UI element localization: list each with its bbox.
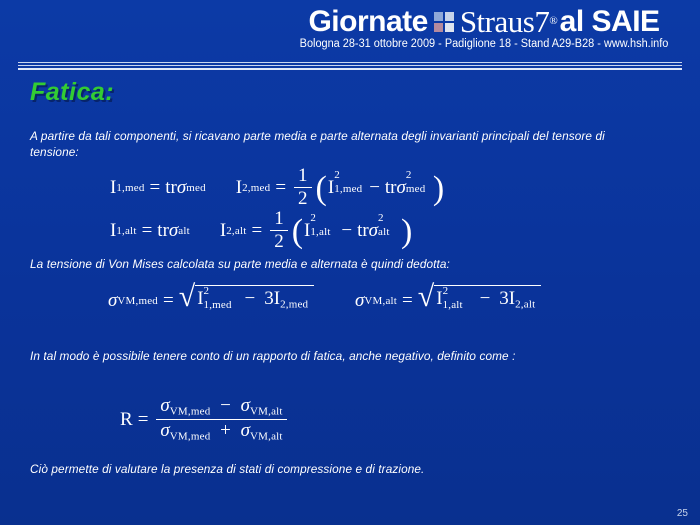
eq3-lhs-sigma: σ xyxy=(108,290,117,312)
eq5-num-operator: − xyxy=(220,395,231,416)
eq2-sigma-2: σ xyxy=(369,220,378,242)
eq2-term1-sub: 1,alt xyxy=(310,226,330,238)
eq5-den-sigma-2: σ xyxy=(241,420,250,441)
eq3-term1-sup: 2 xyxy=(204,285,210,297)
eq5-den-sub-2: VM,alt xyxy=(250,431,283,443)
eq1-trace-fn-1: tr xyxy=(165,177,177,199)
eq1-frac-numerator: 1 xyxy=(294,166,312,186)
eq2-paren-open: ( xyxy=(292,218,303,245)
paragraph-conclusion: Ciò permette di valutare la presenza di … xyxy=(30,461,625,477)
paragraph-intro: A partire da tali componenti, si ricavan… xyxy=(30,128,606,160)
eq2-trace-fn-2: tr xyxy=(357,220,369,242)
page-number: 25 xyxy=(677,508,688,519)
eq4-radicand: I21,alt − 3I2,alt xyxy=(434,285,541,310)
eq1-frac-denominator: 2 xyxy=(294,189,312,209)
eq2-sigma-1: σ xyxy=(169,220,178,242)
equation-von-mises-mean: σVM,med = √ I21,med − 3I2,med xyxy=(108,288,314,313)
eq3-minus: − xyxy=(245,288,256,309)
eq5-numerator: σVM,med − σVM,alt xyxy=(156,396,286,418)
equation-fatigue-ratio-R: R = σVM,med − σVM,alt σVM,med + σVM,alt xyxy=(120,396,290,443)
logo-word-giornate: Giornate xyxy=(308,7,427,37)
eq3-lhs-sub: VM,med xyxy=(117,295,158,307)
eq3-radical-sign: √ xyxy=(179,285,195,310)
equation-von-mises-alternating: σVM,alt = √ I21,alt − 3I2,alt xyxy=(355,288,541,313)
equation-invariants-mean: I1,med = trσmed I2,med = 1 2 ( I21,med −… xyxy=(110,166,445,209)
eq4-term1-sub: 1,alt xyxy=(443,299,463,311)
eq2-sigma-1-sub: alt xyxy=(178,225,190,237)
eq5-equals: = xyxy=(138,409,149,431)
eq1-term1-sub: 1,med xyxy=(334,183,362,195)
eq4-term2-sub: 2,alt xyxy=(515,298,535,310)
eq2-lhs1-sub: 1,alt xyxy=(116,225,136,237)
eq5-ratio-fraction: σVM,med − σVM,alt σVM,med + σVM,alt xyxy=(156,396,286,443)
eq3-term2-sub: 2,med xyxy=(280,298,308,310)
eq4-term1-sup: 2 xyxy=(443,285,449,297)
eq1-equals-2: = xyxy=(275,177,286,199)
paragraph-fatigue-ratio: In tal modo è possibile tenere conto di … xyxy=(30,348,577,364)
registered-trademark-icon: ® xyxy=(549,16,557,27)
eq2-paren-close: ) xyxy=(401,218,412,245)
header-subtitle: Bologna 28-31 ottobre 2009 - Padiglione … xyxy=(285,38,684,50)
eq4-minus: − xyxy=(480,288,491,309)
eq2-frac-denominator: 2 xyxy=(270,232,288,252)
eq2-one-half-fraction: 1 2 xyxy=(270,209,288,252)
eq3-radicand: I21,med − 3I2,med xyxy=(195,285,314,310)
eq5-num-sigma-1: σ xyxy=(160,395,169,416)
eq4-coefficient: 3 xyxy=(499,288,509,309)
eq2-term2-sup: 2 xyxy=(378,212,384,224)
eq2-term2-sub: alt xyxy=(378,226,390,238)
logo-word-straus7: Straus7 xyxy=(460,6,550,37)
eq2-equals-1: = xyxy=(142,220,153,242)
eq5-den-sigma-1: σ xyxy=(160,420,169,441)
eq1-term1-sup: 2 xyxy=(334,169,340,181)
eq2-lhs2-sub: 2,alt xyxy=(226,225,246,237)
eq1-term2-sub: med xyxy=(406,183,426,195)
eq1-one-half-fraction: 1 2 xyxy=(294,166,312,209)
eq4-radical-sign: √ xyxy=(418,285,434,310)
eq1-minus: − xyxy=(369,177,380,199)
eq3-square-root: √ I21,med − 3I2,med xyxy=(179,288,315,313)
event-logo: Giornate Straus7 ® al SAIE xyxy=(274,6,694,37)
eq4-lhs-sub: VM,alt xyxy=(364,295,397,307)
page-title: Fatica: xyxy=(30,78,114,107)
presentation-slide: Giornate Straus7 ® al SAIE Bologna 28-31… xyxy=(0,0,700,525)
eq2-term1-sup: 2 xyxy=(310,212,316,224)
eq1-equals-1: = xyxy=(150,177,161,199)
four-square-grid-icon xyxy=(434,12,456,33)
eq1-lhs1-sub: 1,med xyxy=(116,182,144,194)
eq1-sigma-2: σ xyxy=(397,177,406,199)
eq4-lhs-sigma: σ xyxy=(355,290,364,312)
eq5-den-sub-1: VM,med xyxy=(170,431,211,443)
eq1-sigma-1: σ xyxy=(177,177,186,199)
eq5-num-sub-2: VM,alt xyxy=(250,405,283,417)
eq2-trace-fn-1: tr xyxy=(157,220,169,242)
eq1-sigma-1-sub: med xyxy=(186,182,206,194)
eq5-lhs-R: R xyxy=(120,409,133,431)
equation-invariants-alternating: I1,alt = trσalt I2,alt = 1 2 ( I21,alt −… xyxy=(110,209,413,252)
eq1-trace-fn-2: tr xyxy=(385,177,397,199)
eq1-lhs2-sub: 2,med xyxy=(242,182,270,194)
eq1-paren-open: ( xyxy=(316,175,327,202)
paragraph-von-mises: La tensione di Von Mises calcolata su pa… xyxy=(30,256,625,272)
eq2-equals-2: = xyxy=(251,220,262,242)
eq1-paren-close: ) xyxy=(433,175,444,202)
eq2-minus: − xyxy=(341,220,352,242)
eq4-equals: = xyxy=(402,290,413,312)
logo-word-al-saie: al SAIE xyxy=(560,7,660,37)
eq3-term1-sub: 1,med xyxy=(204,299,232,311)
eq3-coefficient: 3 xyxy=(264,288,274,309)
header-divider-line-3 xyxy=(18,68,682,70)
eq4-square-root: √ I21,alt − 3I2,alt xyxy=(418,288,542,313)
eq2-frac-numerator: 1 xyxy=(270,209,288,229)
eq1-term2-sup: 2 xyxy=(406,169,412,181)
header-divider-line-1 xyxy=(18,62,682,63)
eq5-num-sigma-2: σ xyxy=(241,395,250,416)
eq5-denominator: σVM,med + σVM,alt xyxy=(156,421,286,443)
header-divider-line-2 xyxy=(18,65,682,66)
header-banner: Giornate Straus7 ® al SAIE Bologna 28-31… xyxy=(0,0,700,60)
eq3-equals: = xyxy=(163,290,174,312)
eq5-num-sub-1: VM,med xyxy=(170,405,211,417)
header-banner-content: Giornate Straus7 ® al SAIE Bologna 28-31… xyxy=(274,6,694,50)
eq5-den-operator: + xyxy=(220,420,231,441)
